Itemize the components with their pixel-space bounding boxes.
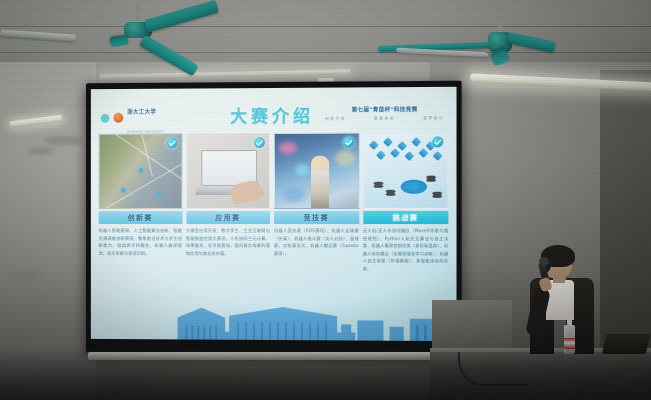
presenter-person <box>524 248 598 354</box>
photo-scene: 浙大工大学 ZHEJIANG UNIVERSITY 大赛介绍 第七届"青苗杯"科… <box>0 0 651 400</box>
category-column: 应用赛 大模型应用开发、数字孪生、工业互联网与智能制造应用大赛项，人机协同三元计… <box>186 133 270 272</box>
category-body: 大模型应用开发、数字孪生、工业互联网与智能制造应用大赛项，人机协同三元计算，场景… <box>186 227 270 257</box>
checkmark-badge <box>166 137 177 148</box>
ceiling-fan-left <box>52 2 222 74</box>
floor-shadow <box>0 348 651 400</box>
presentation-slide: 浙大工大学 ZHEJIANG UNIVERSITY 大赛介绍 第七届"青苗杯"科… <box>91 87 457 341</box>
kicker-sub-1: 创新引领 <box>325 117 346 122</box>
kicker-sub-3: 逐梦前行 <box>423 116 444 121</box>
laptop-coding-photo <box>186 133 270 209</box>
projector-screen: 浙大工大学 ZHEJIANG UNIVERSITY 大赛介绍 第七届"青苗杯"科… <box>86 81 462 356</box>
category-column: 创新赛 机器人智能感知、人工智能算法创新、智能交通调度创新赛项，聚焦前沿技术与学… <box>99 133 182 272</box>
city-skyline-silhouette <box>91 305 457 341</box>
swarm-robots-diagram <box>363 132 449 209</box>
ceiling-fan-right <box>440 8 610 78</box>
category-column: 竞技赛 机器人竞技赛（ROS赛项）、机器人足球赛（仿真）、机器人格斗赛（实人对抗… <box>274 133 359 273</box>
checkmark-badge <box>432 136 443 147</box>
kicker-sub-text: 创新引领 智慧未来 逐梦前行 <box>325 116 444 122</box>
category-caption: 创新赛 <box>99 211 182 224</box>
category-column: 挑战赛 无人机/无人车协同编队（MoveIt导航与路径规划）、Python人机交… <box>363 132 449 273</box>
slide-kicker: 第七届"青苗杯"科技竞赛 创新引领 智慧未来 逐梦前行 <box>325 105 444 122</box>
door-panel <box>600 70 651 370</box>
category-caption: 挑战赛 <box>363 211 449 224</box>
kicker-main-text: 第七届"青苗杯"科技竞赛 <box>325 105 444 114</box>
category-caption: 应用赛 <box>186 211 270 224</box>
category-body: 机器人竞技赛（ROS赛项）、机器人足球赛（仿真）、机器人格斗赛（实人对抗）、巡线… <box>274 227 359 257</box>
aerial-city-map-photo <box>99 133 182 209</box>
checkmark-badge <box>343 137 354 148</box>
checkmark-badge <box>254 137 265 148</box>
robot-arena-photo <box>274 133 359 209</box>
kicker-sub-2: 智慧未来 <box>374 116 395 121</box>
category-caption: 竞技赛 <box>274 211 359 224</box>
category-body: 机器人智能感知、人工智能算法创新、智能交通调度创新赛项，聚焦前沿技术与学生创新能… <box>99 227 182 257</box>
category-body: 无人机/无人车协同编队（MoveIt导航与路径规划）、Python人机交互算法与… <box>363 227 449 273</box>
category-columns: 创新赛 机器人智能感知、人工智能算法创新、智能交通调度创新赛项，聚焦前沿技术与学… <box>99 132 449 273</box>
